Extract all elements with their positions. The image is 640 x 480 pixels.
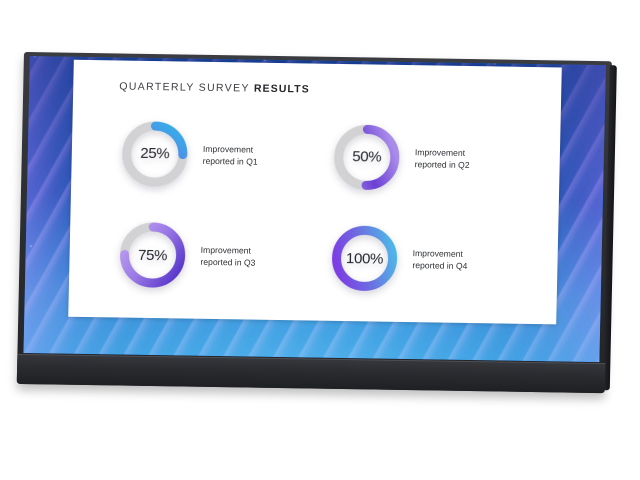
donut-chart-q1: 25% [117,116,193,191]
donut-cell-q1: 25% Improvement reported in Q1 [117,104,321,205]
page-title: QUARTERLY SURVEY RESULTS [119,81,310,96]
donut-label-q4: Improvement reported in Q4 [412,247,467,272]
donut-label-q2: Improvement reported in Q2 [415,146,470,171]
donut-value-q1: 25% [117,116,193,191]
donut-grid: 25% Improvement reported in Q1 [115,104,533,309]
donut-value-q3: 75% [115,218,191,293]
donut-chart-q2: 50% [329,120,405,195]
donut-cell-q3: 75% Improvement reported in Q3 [115,206,319,307]
donut-value-q2: 50% [329,120,405,195]
page-title-regular: QUARTERLY SURVEY [119,81,250,95]
donut-chart-q3: 75% [115,218,191,293]
donut-cell-q2: 50% Improvement reported in Q2 [329,108,533,209]
donut-value-q4: 100% [327,221,403,296]
page-title-bold: RESULTS [254,83,310,96]
donut-label-q1: Improvement reported in Q1 [203,142,258,167]
donut-label-q3: Improvement reported in Q3 [200,244,255,269]
monitor: QUARTERLY SURVEY RESULTS [17,52,612,393]
monitor-screen: QUARTERLY SURVEY RESULTS [23,56,605,362]
donut-chart-q4: 100% [327,221,403,296]
presentation-slide: QUARTERLY SURVEY RESULTS [68,60,562,325]
donut-cell-q4: 100% Improvement reported in Q4 [327,209,531,310]
